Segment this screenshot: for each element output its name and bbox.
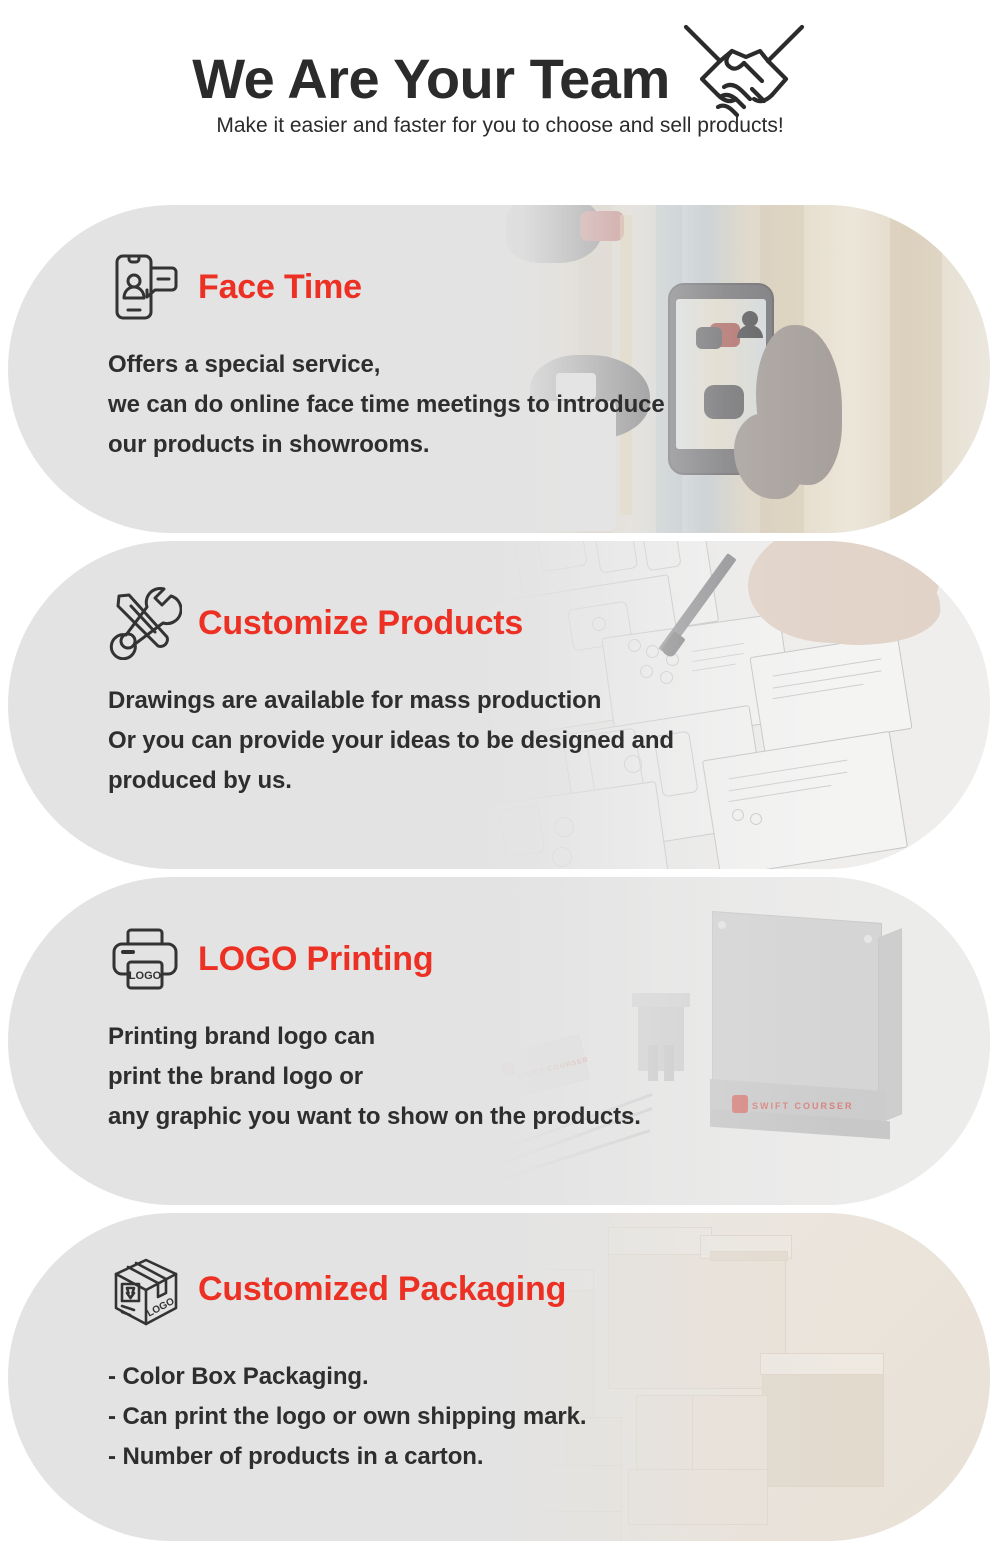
card-body-line: print the brand logo or [108,1057,990,1097]
wrench-screwdriver-icon [108,586,182,660]
feature-card-customized-packaging[interactable]: LOGO Customized Packaging - Color Box Pa… [8,1213,990,1541]
card-body-line: Or you can provide your ideas to be desi… [108,721,990,761]
card-body: Printing brand logo can print the brand … [108,1017,990,1137]
card-title: LOGO Printing [198,940,433,979]
card-title: Face Time [198,268,362,307]
card-title: Customize Products [198,604,523,643]
card-body-line: - Color Box Packaging. [108,1357,990,1397]
card-body-line: produced by us. [108,761,990,801]
card-content: Customize Products Drawings are availabl… [8,541,990,801]
handshake-icon [680,5,808,125]
card-body: Offers a special service, we can do onli… [108,345,990,465]
feature-card-face-time[interactable]: Face Time Offers a special service, we c… [8,205,990,533]
feature-card-logo-printing[interactable]: SWIFT COURSER SWIFT COURSER [8,877,990,1205]
page-header: We Are Your Team [0,0,1000,190]
page-root: We Are Your Team [0,0,1000,1558]
card-header: Face Time [108,241,990,333]
page-subtitle: Make it easier and faster for you to cho… [0,114,1000,138]
card-body-line: Drawings are available for mass producti… [108,681,990,721]
card-content: LOGO LOGO Printing Printing brand logo c… [8,877,990,1137]
card-body-line: any graphic you want to show on the prod… [108,1097,990,1137]
feature-card-customize-products[interactable]: Customize Products Drawings are availabl… [8,541,990,869]
card-body-line: we can do online face time meetings to i… [108,385,990,425]
card-body-line: Offers a special service, [108,345,990,385]
page-title: We Are Your Team [192,51,670,107]
card-content: Face Time Offers a special service, we c… [8,205,990,465]
card-title: Customized Packaging [198,1270,566,1309]
card-header: Customize Products [108,577,990,669]
card-body-line: Printing brand logo can [108,1017,990,1057]
video-call-phone-icon [108,250,182,324]
card-body-line: - Can print the logo or own shipping mar… [108,1397,990,1437]
card-body-line: - Number of products in a carton. [108,1437,990,1477]
package-box-logo-icon: LOGO [108,1252,182,1326]
card-header: LOGO Customized Packaging [108,1243,990,1335]
title-row: We Are Your Team [0,0,1000,96]
card-body: Drawings are available for mass producti… [108,681,990,801]
card-body: - Color Box Packaging. - Can print the l… [108,1357,990,1477]
card-header: LOGO LOGO Printing [108,913,990,1005]
printer-paper-label: LOGO [129,970,162,982]
card-body-line: our products in showrooms. [108,425,990,465]
card-content: LOGO Customized Packaging - Color Box Pa… [8,1213,990,1477]
printer-logo-icon: LOGO [108,922,182,996]
